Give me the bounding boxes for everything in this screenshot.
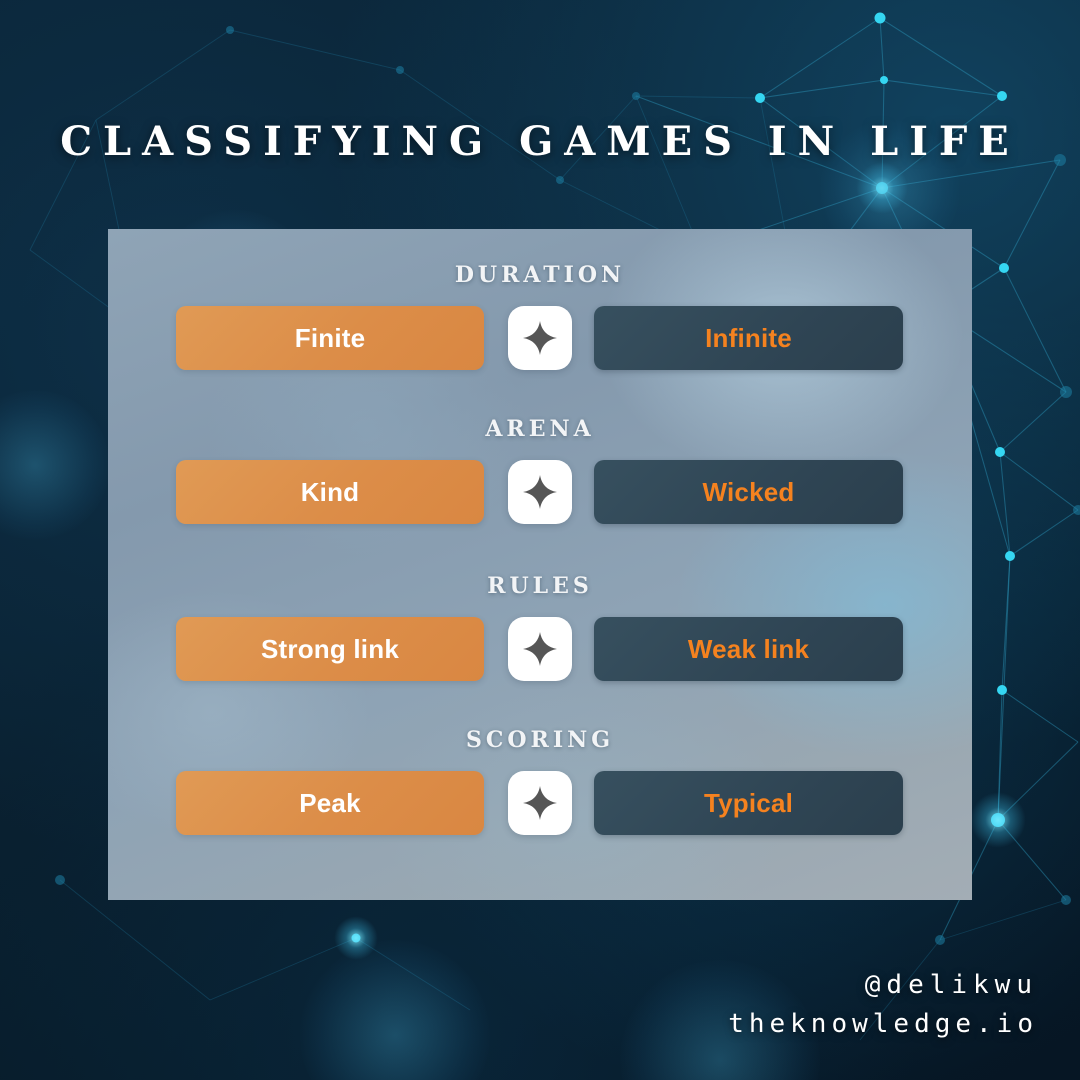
option-right-typical[interactable]: Typical (594, 771, 903, 835)
sparkle-icon-box (508, 771, 572, 835)
option-left-strong-link[interactable]: Strong link (176, 617, 484, 681)
page-title: CLASSIFYING GAMES IN LIFE (0, 118, 1080, 165)
row-pair-duration: Finite Infinite (108, 306, 972, 370)
option-left-kind[interactable]: Kind (176, 460, 484, 524)
option-left-peak[interactable]: Peak (176, 771, 484, 835)
row-pair-arena: Kind Wicked (108, 460, 972, 524)
row-pair-scoring: Peak Typical (108, 771, 972, 835)
footer-handle: @delikwu (728, 966, 1038, 1005)
poster-canvas: CLASSIFYING GAMES IN LIFE DURATION Finit… (0, 0, 1080, 1080)
option-right-infinite[interactable]: Infinite (594, 306, 903, 370)
comparison-row-scoring: SCORING Peak Typical (108, 727, 972, 835)
row-label-arena: ARENA (108, 416, 972, 442)
row-label-scoring: SCORING (108, 727, 972, 753)
option-left-finite[interactable]: Finite (176, 306, 484, 370)
comparison-row-rules: RULES Strong link Weak link (108, 573, 972, 681)
row-pair-rules: Strong link Weak link (108, 617, 972, 681)
comparison-card: DURATION Finite Infinite ARENA Kind (108, 229, 972, 900)
comparison-rows: DURATION Finite Infinite ARENA Kind (108, 229, 972, 900)
row-label-rules: RULES (108, 573, 972, 599)
footer-website: theknowledge.io (728, 1005, 1038, 1044)
footer-credits: @delikwu theknowledge.io (728, 966, 1038, 1044)
option-right-wicked[interactable]: Wicked (594, 460, 903, 524)
option-right-weak-link[interactable]: Weak link (594, 617, 903, 681)
comparison-row-duration: DURATION Finite Infinite (108, 262, 972, 370)
row-label-duration: DURATION (108, 262, 972, 288)
sparkle-icon (522, 320, 558, 356)
sparkle-icon (522, 631, 558, 667)
sparkle-icon-box (508, 306, 572, 370)
comparison-row-arena: ARENA Kind Wicked (108, 416, 972, 524)
sparkle-icon-box (508, 460, 572, 524)
sparkle-icon-box (508, 617, 572, 681)
sparkle-icon (522, 785, 558, 821)
sparkle-icon (522, 474, 558, 510)
